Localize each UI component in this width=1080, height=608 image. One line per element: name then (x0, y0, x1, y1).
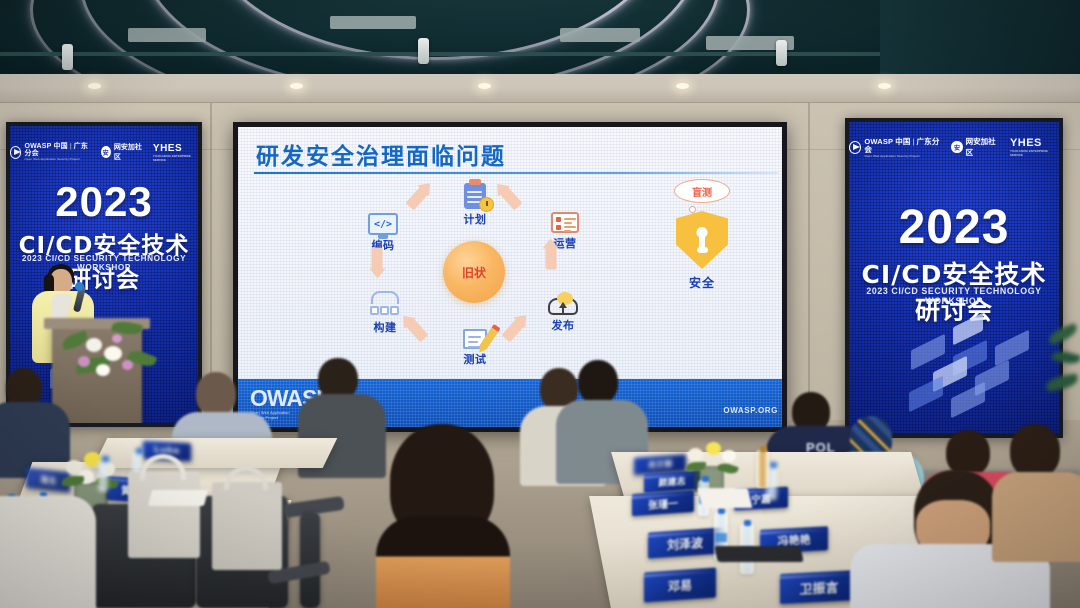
cycle-node-operate: 运营 (528, 199, 602, 251)
partner-logo: 安 网安加社区 (101, 142, 144, 162)
yhes-sub: YUAN HENG ENTERPRISE SERVICE (153, 154, 198, 162)
cycle-core-label: 旧状 (462, 264, 486, 281)
owasp-footer-url: OWASP.ORG (723, 406, 778, 415)
table-flowers (684, 438, 742, 476)
left-banner-year: 2023 (10, 178, 198, 226)
tote-bag (128, 472, 200, 558)
owasp-sub: Open Web Application Security Project (24, 157, 91, 161)
owasp-sub: Open Web Application Security Project (864, 154, 942, 158)
ceiling-speaker (62, 44, 73, 70)
cycle-node-code: </> 编码 (346, 201, 420, 253)
cycle-node-label: 发布 (526, 317, 600, 333)
banner-logo-row: OWASP 中国 | 广东分会 Open Web Application Sec… (849, 136, 1059, 158)
cycle-node-label: 运营 (528, 235, 602, 251)
yhes-logo: YHES ® YUAN HENG ENTERPRISE SERVICE (153, 143, 198, 162)
ceiling-panel (330, 16, 416, 29)
tea-bottle (756, 450, 769, 488)
nameplate-text: 卫振言 (799, 576, 838, 597)
ceiling-speaker (776, 40, 787, 66)
ceiling (0, 0, 1080, 78)
ceiling-panel (128, 28, 206, 42)
cycle-core: 旧状 (443, 241, 505, 303)
main-presentation-screen: 研发安全治理面临问题 旧状 (233, 122, 787, 432)
note-pencil-icon (438, 315, 512, 349)
nameplate: 刘泽波 (648, 527, 722, 558)
nameplate-text: 邓易 (668, 576, 692, 595)
ceiling-speaker (418, 38, 429, 64)
paper-stack (148, 490, 208, 506)
slide-title: 研发安全治理面临问题 (256, 137, 506, 171)
ceiling-panel (560, 28, 640, 42)
right-banner-cube-graphic (849, 308, 1059, 428)
cloud-upload-icon (526, 281, 600, 315)
cycle-node-label: 计划 (438, 211, 512, 227)
yhes-registered-icon: ® (1060, 135, 1063, 141)
ceiling-corner (880, 0, 1080, 78)
security-label: 安全 (642, 274, 762, 291)
owasp-logo: OWASP 中国 | 广东分会 Open Web Application Sec… (10, 143, 92, 161)
downlight (878, 83, 891, 89)
nameplate: 张瑾一 (632, 490, 694, 516)
yhes-name: YHES (1010, 137, 1042, 149)
cycle-node-label: 测试 (438, 351, 512, 367)
laptop-closed (714, 546, 803, 562)
downlight (88, 83, 101, 89)
right-banner-subtitle: 2023 CI/CD SECURITY TECHNOLOGY WORKSHOP (849, 286, 1059, 306)
downlight (478, 83, 491, 89)
owasp-cn: 中国 (53, 143, 67, 150)
banner-logo-row: OWASP 中国 | 广东分会 Open Web Application Sec… (10, 142, 198, 162)
title-divider (254, 172, 778, 174)
partner-name: 网安加社区 (966, 136, 1001, 158)
yhes-name: YHES (153, 143, 182, 154)
nameplate: 卫振言 (780, 570, 858, 604)
nameplate-text: 肖文锦 (648, 458, 672, 471)
podium-flowers (56, 312, 176, 392)
yhes-logo: YHES ® YUAN HENG ENTERPRISE SERVICE (1010, 137, 1059, 157)
table-flowers (60, 446, 122, 490)
potted-plant (1046, 322, 1080, 442)
ceiling-soffit (0, 74, 1080, 104)
downlight (676, 83, 689, 89)
paper-stack (698, 488, 753, 508)
conference-table-left-far (93, 438, 338, 468)
monitor-list-icon (528, 199, 602, 233)
right-banner-year: 2023 (849, 200, 1059, 255)
shield-keyhole-icon (676, 211, 728, 269)
thought-bubble: 盲测 (674, 179, 730, 203)
cycle-node-release: 发布 (526, 281, 600, 333)
nameplate-text: 刘泽波 (667, 533, 703, 553)
cycle-arrow (546, 248, 557, 270)
conference-room-photo: OWASP 中国 | 广东分会 Open Web Application Sec… (0, 0, 1080, 608)
partner-mark-icon: 安 (101, 146, 111, 158)
owasp-cn: 中国 (895, 137, 910, 146)
owasp-logo: OWASP 中国 | 广东分会 Open Web Application Sec… (849, 137, 942, 158)
owasp-name: OWASP (24, 143, 51, 150)
downlight (290, 83, 303, 89)
right-led-banner: OWASP 中国 | 广东分会 Open Web Application Sec… (845, 118, 1063, 438)
cycle-node-label: 编码 (346, 237, 420, 253)
yhes-registered-icon: ® (199, 141, 202, 147)
nameplate: 邓易 (644, 567, 716, 602)
owasp-mark-icon (10, 146, 21, 159)
chair-leg (300, 512, 320, 608)
tote-bag (212, 482, 282, 570)
cycle-arrow (406, 319, 429, 343)
cycle-node-test: 测试 (438, 315, 512, 367)
owasp-mark-icon (849, 141, 861, 154)
thought-bubble-text: 盲测 (692, 184, 712, 199)
partner-mark-icon: 安 (951, 141, 962, 153)
water-bottle (98, 460, 108, 492)
partner-name: 网安加社区 (114, 142, 144, 162)
nameplate-text: 潘洁 (40, 474, 56, 487)
cycle-arrow (372, 248, 383, 270)
partner-logo: 安 网安加社区 (951, 136, 1001, 158)
security-group: 盲测 安全 (642, 179, 762, 291)
yhes-sub: YUAN HENG ENTERPRISE SERVICE (1010, 149, 1059, 157)
